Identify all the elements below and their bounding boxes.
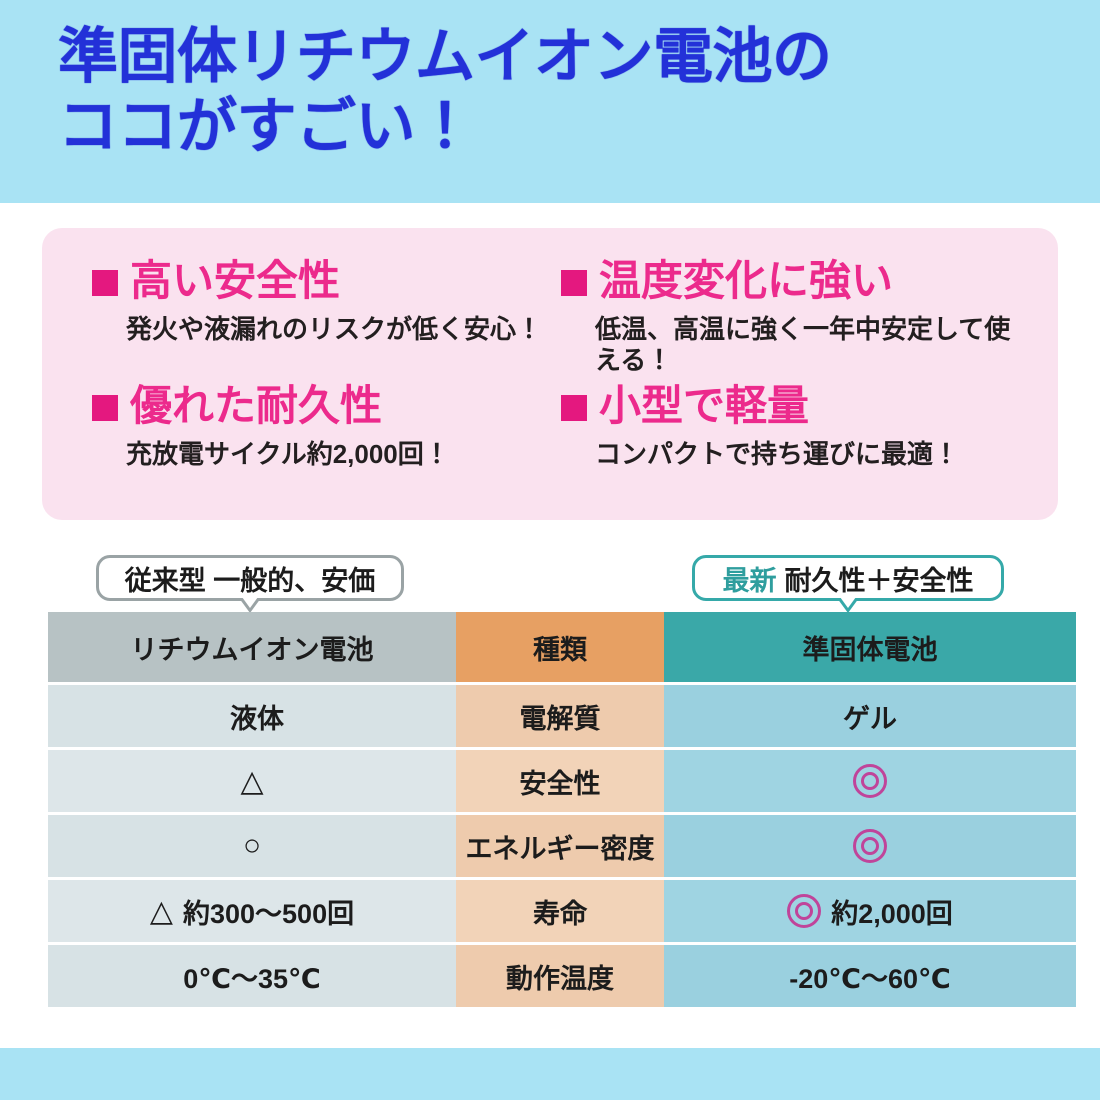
table-header-middle: 種類 — [456, 612, 664, 685]
feature-description: 低温、高温に強く一年中安定して使える！ — [595, 314, 1020, 376]
feature-item-3: 小型で軽量 コンパクトで持ち運びに最適！ — [561, 383, 1030, 500]
cell-attribute: エネルギー密度 — [456, 815, 664, 880]
square-bullet-icon — [92, 395, 118, 421]
double-circle-icon — [853, 829, 887, 863]
cell-right: 約2,000回 — [664, 880, 1076, 945]
table-header-row: リチウムイオン電池 種類 準固体電池 — [48, 612, 1076, 685]
square-bullet-icon — [561, 270, 587, 296]
feature-item-2: 優れた耐久性 充放電サイクル約2,000回！ — [92, 383, 561, 500]
cell-attribute: 寿命 — [456, 880, 664, 945]
callout-latest-label: 耐久性＋安全性 — [785, 559, 974, 598]
cell-left: 液体 — [48, 685, 456, 750]
table-row: ○ エネルギー密度 — [48, 815, 1076, 880]
value-left: 液体 — [230, 697, 284, 736]
cell-right — [664, 750, 1076, 815]
square-bullet-icon — [561, 395, 587, 421]
cell-right: -20℃〜60℃ — [664, 945, 1076, 1007]
value-right: -20℃〜60℃ — [789, 957, 950, 996]
double-circle-icon — [853, 764, 887, 798]
value-left: 0℃〜35℃ — [183, 957, 320, 996]
feature-title: 温度変化に強い — [599, 258, 893, 304]
mark-left: ○ — [243, 829, 261, 863]
cell-left: △ 約300〜500回 — [48, 880, 456, 945]
cell-attribute: 電解質 — [456, 685, 664, 750]
callout-latest-accent: 最新 — [723, 559, 777, 598]
callout-legacy-label: 従来型 一般的、安価 — [125, 559, 376, 598]
feature-description: 発火や液漏れのリスクが低く安心！ — [126, 314, 551, 345]
table-row: 0℃〜35℃ 動作温度 -20℃〜60℃ — [48, 945, 1076, 1007]
top-banner: 準固体リチウムイオン電池の ココがすごい！ — [0, 0, 1100, 203]
cell-left: △ — [48, 750, 456, 815]
cell-attribute: 動作温度 — [456, 945, 664, 1007]
square-bullet-icon — [92, 270, 118, 296]
comparison-table: リチウムイオン電池 種類 準固体電池 液体 電解質 ゲル △ 安全性 — [48, 612, 1076, 1007]
features-panel: 高い安全性 発火や液漏れのリスクが低く安心！ 温度変化に強い 低温、高温に強く一… — [42, 228, 1058, 520]
mark-left: △ — [240, 764, 263, 799]
value-left: 約300〜500回 — [183, 892, 354, 931]
feature-item-0: 高い安全性 発火や液漏れのリスクが低く安心！ — [92, 258, 561, 377]
table-row: 液体 電解質 ゲル — [48, 685, 1076, 750]
table-row: △ 約300〜500回 寿命 約2,000回 — [48, 880, 1076, 945]
bottom-banner — [0, 1048, 1100, 1100]
callout-legacy: 従来型 一般的、安価 — [96, 555, 404, 601]
table-row: △ 安全性 — [48, 750, 1076, 815]
value-right: ゲル — [843, 697, 897, 736]
table-header-right: 準固体電池 — [664, 612, 1076, 685]
feature-title: 小型で軽量 — [599, 383, 809, 429]
callout-latest: 最新 耐久性＋安全性 — [692, 555, 1004, 601]
cell-attribute: 安全性 — [456, 750, 664, 815]
mark-left: △ — [150, 894, 173, 929]
double-circle-icon — [787, 894, 821, 928]
value-right: 約2,000回 — [831, 892, 953, 931]
feature-description: コンパクトで持ち運びに最適！ — [595, 439, 1020, 470]
table-header-left: リチウムイオン電池 — [48, 612, 456, 685]
page-title: 準固体リチウムイオン電池の ココがすごい！ — [58, 22, 1100, 162]
cell-right — [664, 815, 1076, 880]
feature-item-1: 温度変化に強い 低温、高温に強く一年中安定して使える！ — [561, 258, 1030, 377]
feature-description: 充放電サイクル約2,000回！ — [126, 439, 551, 470]
feature-title: 高い安全性 — [130, 258, 340, 304]
cell-left: 0℃〜35℃ — [48, 945, 456, 1007]
cell-left: ○ — [48, 815, 456, 880]
cell-right: ゲル — [664, 685, 1076, 750]
feature-title: 優れた耐久性 — [130, 383, 382, 429]
